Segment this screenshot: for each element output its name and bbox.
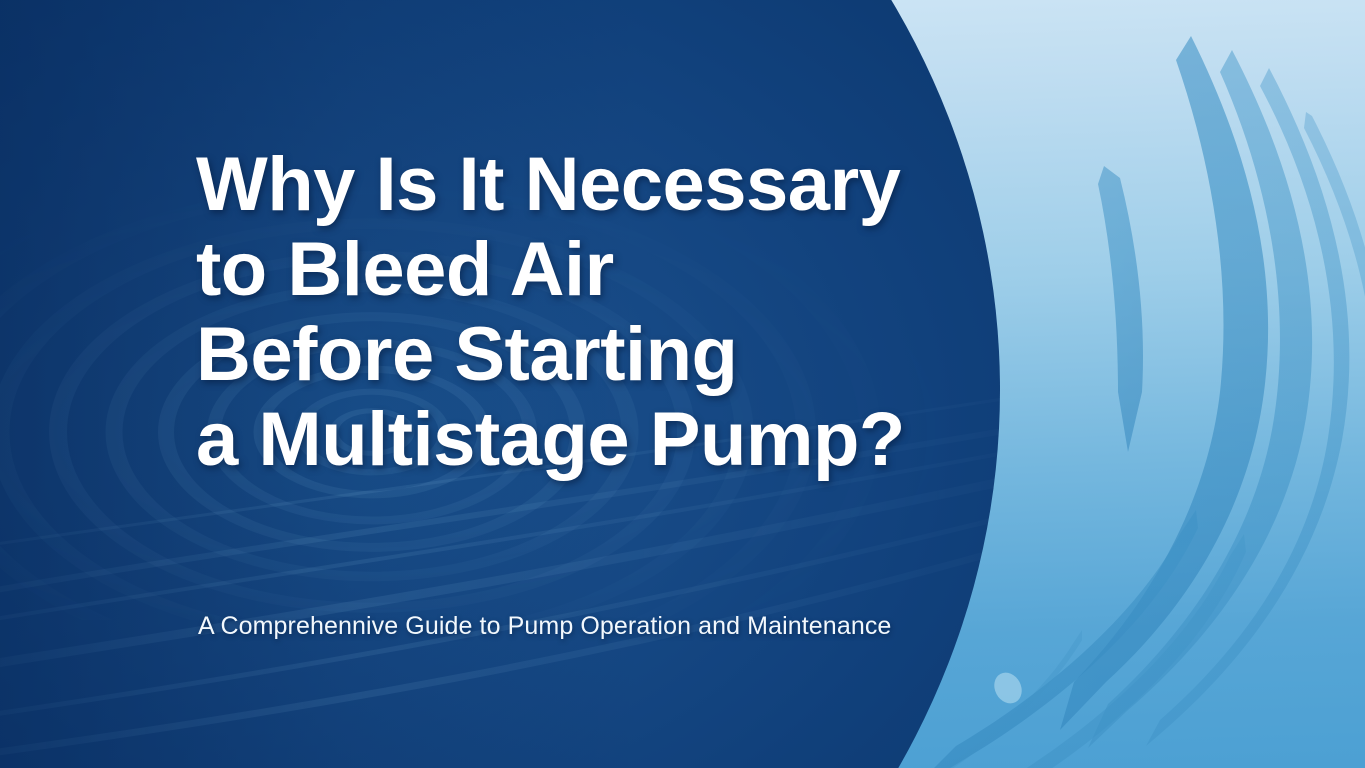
title-slide: Why Is It Necessary to Bleed Air Before … <box>0 0 1365 768</box>
page-title: Why Is It Necessary to Bleed Air Before … <box>196 142 905 482</box>
text-content: Why Is It Necessary to Bleed Air Before … <box>196 0 1096 768</box>
page-subtitle: A Comprehennive Guide to Pump Operation … <box>198 609 891 643</box>
